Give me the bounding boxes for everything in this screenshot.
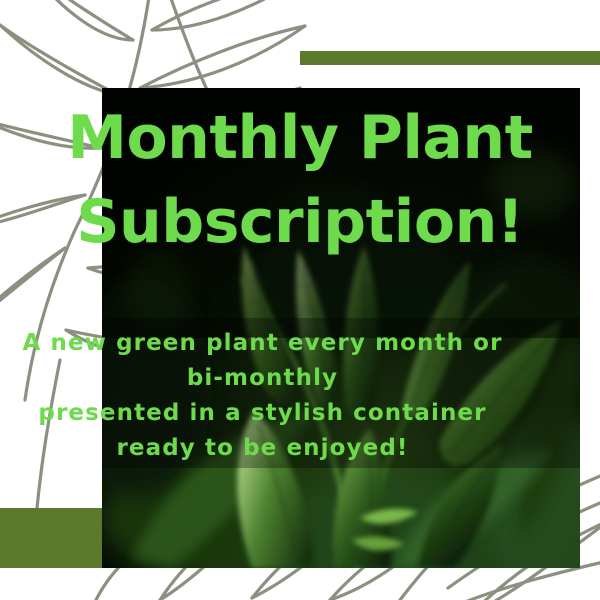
- plant-photo-image: [102, 88, 580, 568]
- poster-canvas: Monthly Plant Subscription! A new green …: [0, 0, 600, 600]
- accent-bar-top: [300, 51, 600, 65]
- plant-photo: [102, 88, 580, 568]
